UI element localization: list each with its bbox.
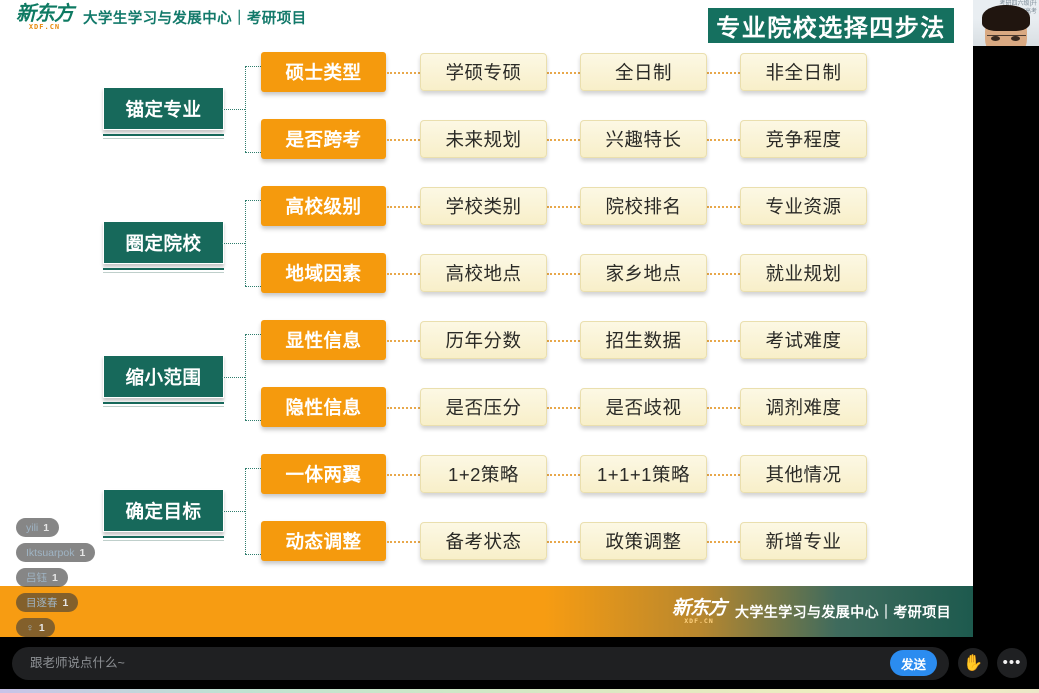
slide-title-text: 专业院校选择四步法	[716, 8, 946, 43]
presenter-eye-left	[991, 36, 1000, 41]
bracket-stem	[222, 511, 245, 512]
dotted-connector	[707, 407, 740, 409]
dotted-connector	[387, 273, 420, 275]
leaf-card-text: 历年分数	[445, 327, 521, 353]
chat-input[interactable]	[12, 647, 949, 680]
bracket-vertical	[245, 468, 246, 554]
bracket-vertical	[245, 334, 246, 420]
dotted-connector	[547, 407, 580, 409]
leaf-card: 是否歧视	[580, 388, 707, 426]
dotted-connector	[387, 407, 420, 409]
diagram-group: 锚定专业硕士类型学硕专硕全日制非全日制是否跨考未来规划兴趣特长竞争程度	[0, 52, 973, 186]
reaction-badge[interactable]: 吕钰1	[16, 568, 68, 587]
reaction-badge-name: 吕钰	[26, 570, 47, 585]
dotted-connector	[547, 72, 580, 74]
header-title: 大学生学习与发展中心｜考研项目	[83, 7, 307, 28]
slide-header: 新东方 XDF.CN 大学生学习与发展中心｜考研项目	[16, 3, 307, 31]
reaction-badge[interactable]: Iktsuarpok1	[16, 543, 95, 562]
leaf-card-text: 专业资源	[765, 193, 841, 219]
leaf-card-text: 全日制	[615, 59, 672, 85]
bracket-connector	[231, 334, 261, 420]
leaf-card-text: 政策调整	[605, 528, 681, 554]
leaf-card-text: 兴趣特长	[605, 126, 681, 152]
leaf-card-text: 是否歧视	[605, 394, 681, 420]
footer-brand: 新东方 XDF.CN 大学生学习与发展中心｜考研项目	[672, 599, 973, 625]
diagram-group: 确定目标一体两翼1+2策略1+1+1策略其他情况动态调整备考状态政策调整新增专业	[0, 454, 973, 588]
leaf-card-text: 1+2策略	[448, 461, 519, 487]
category-node-text: 一体两翼	[285, 461, 361, 487]
leaf-card: 高校地点	[420, 254, 547, 292]
step-underline	[103, 536, 224, 541]
leaf-card: 竞争程度	[740, 120, 867, 158]
reaction-badge[interactable]: ♀1	[16, 618, 55, 637]
xdf-logo: 新东方 XDF.CN	[16, 3, 73, 31]
dotted-connector	[707, 72, 740, 74]
leaf-card: 非全日制	[740, 53, 867, 91]
bracket-arm-bottom	[245, 420, 261, 421]
presenter-hair	[982, 5, 1030, 31]
leaf-card-text: 竞争程度	[765, 126, 841, 152]
step-label: 锚定专业	[103, 87, 224, 130]
leaf-card-text: 院校排名	[605, 193, 681, 219]
dotted-connector	[387, 206, 420, 208]
category-node-text: 高校级别	[285, 193, 361, 219]
more-options-icon[interactable]: •••	[997, 648, 1027, 678]
footer-title: 大学生学习与发展中心｜考研项目	[735, 602, 951, 622]
leaf-card-text: 调剂难度	[765, 394, 841, 420]
step-underline	[103, 134, 224, 139]
bracket-arm-top	[245, 468, 261, 469]
leaf-card-text: 是否压分	[445, 394, 521, 420]
presenter-video-thumbnail[interactable]: 考研四六级|升 |高考	[973, 0, 1039, 62]
leaf-card-text: 高校地点	[445, 260, 521, 286]
leaf-card: 就业规划	[740, 254, 867, 292]
leaf-card: 历年分数	[420, 321, 547, 359]
leaf-card: 兴趣特长	[580, 120, 707, 158]
dotted-connector	[707, 206, 740, 208]
bracket-connector	[231, 200, 261, 286]
slide-footer-band: 新东方 XDF.CN 大学生学习与发展中心｜考研项目	[0, 586, 973, 637]
leaf-card: 招生数据	[580, 321, 707, 359]
leaf-card: 新增专业	[740, 522, 867, 560]
slide-title-banner: 专业院校选择四步法	[706, 6, 956, 45]
leaf-card-text: 招生数据	[605, 327, 681, 353]
bottom-color-strip	[0, 689, 1039, 693]
category-node-text: 硕士类型	[285, 59, 361, 85]
bracket-arm-bottom	[245, 286, 261, 287]
reaction-badge-count: 1	[39, 622, 45, 634]
dotted-connector	[387, 541, 420, 543]
dotted-connector	[387, 474, 420, 476]
dotted-connector	[387, 72, 420, 74]
dotted-connector	[707, 340, 740, 342]
bracket-connector	[231, 66, 261, 152]
bracket-connector	[231, 468, 261, 554]
dotted-connector	[547, 541, 580, 543]
leaf-card: 学校类别	[420, 187, 547, 225]
dotted-connector	[707, 273, 740, 275]
bracket-vertical	[245, 66, 246, 152]
category-node-text: 地域因素	[285, 260, 361, 286]
leaf-card: 专业资源	[740, 187, 867, 225]
reaction-badge-count: 1	[79, 547, 85, 559]
reaction-badge-name: ♀	[26, 622, 34, 634]
step-label-text: 确定目标	[125, 498, 201, 524]
dotted-connector	[547, 139, 580, 141]
footer-logo-cn: 新东方	[672, 599, 726, 618]
meeting-window: 新东方 XDF.CN 大学生学习与发展中心｜考研项目 专业院校选择四步法 锚定专…	[0, 0, 1039, 693]
dotted-connector	[707, 139, 740, 141]
reaction-badge-count: 1	[63, 597, 69, 609]
dotted-connector	[387, 139, 420, 141]
camera-letterbox	[973, 46, 1039, 62]
step-underline	[103, 402, 224, 407]
step-label-text: 缩小范围	[125, 364, 201, 390]
reaction-badge-count: 1	[52, 572, 58, 584]
step-underline	[103, 268, 224, 273]
reaction-badge-name: yili	[26, 522, 38, 534]
raise-hand-icon[interactable]: ✋	[958, 648, 988, 678]
dotted-connector	[707, 474, 740, 476]
category-node: 地域因素	[261, 253, 386, 293]
reaction-badge-list: yili1Iktsuarpok1吕钰1目逐春1♀1	[16, 518, 95, 637]
bracket-stem	[222, 109, 245, 110]
diagram-group: 圈定院校高校级别学校类别院校排名专业资源地域因素高校地点家乡地点就业规划	[0, 186, 973, 320]
dotted-connector	[547, 273, 580, 275]
leaf-card-text: 就业规划	[765, 260, 841, 286]
category-node: 硕士类型	[261, 52, 386, 92]
leaf-card: 全日制	[580, 53, 707, 91]
leaf-card: 政策调整	[580, 522, 707, 560]
leaf-card: 是否压分	[420, 388, 547, 426]
leaf-card: 学硕专硕	[420, 53, 547, 91]
leaf-card-text: 学校类别	[445, 193, 521, 219]
leaf-card-text: 备考状态	[445, 528, 521, 554]
category-node-text: 显性信息	[285, 327, 361, 353]
dotted-connector	[547, 206, 580, 208]
leaf-card: 家乡地点	[580, 254, 707, 292]
leaf-card-text: 非全日制	[765, 59, 841, 85]
leaf-card: 调剂难度	[740, 388, 867, 426]
xdf-logo-en: XDF.CN	[29, 24, 60, 31]
xdf-logo-cn: 新东方	[16, 3, 73, 23]
category-node: 一体两翼	[261, 454, 386, 494]
bracket-arm-top	[245, 334, 261, 335]
leaf-card: 1+2策略	[420, 455, 547, 493]
step-label: 圈定院校	[103, 221, 224, 264]
leaf-card: 其他情况	[740, 455, 867, 493]
reaction-badge[interactable]: yili1	[16, 518, 59, 537]
leaf-card-text: 1+1+1策略	[597, 461, 690, 487]
bracket-stem	[222, 243, 245, 244]
reaction-badge[interactable]: 目逐春1	[16, 593, 78, 612]
bracket-arm-bottom	[245, 554, 261, 555]
chat-toolbar: 发送 ✋ •••	[0, 637, 1039, 689]
dotted-connector	[547, 340, 580, 342]
step-label-text: 锚定专业	[125, 96, 201, 122]
leaf-card: 1+1+1策略	[580, 455, 707, 493]
leaf-card: 未来规划	[420, 120, 547, 158]
bracket-stem	[222, 377, 245, 378]
reaction-badge-name: 目逐春	[26, 595, 58, 610]
bracket-arm-top	[245, 200, 261, 201]
category-node: 高校级别	[261, 186, 386, 226]
leaf-card-text: 新增专业	[765, 528, 841, 554]
bracket-arm-top	[245, 66, 261, 67]
shared-slide: 新东方 XDF.CN 大学生学习与发展中心｜考研项目 专业院校选择四步法 锚定专…	[0, 0, 973, 637]
four-step-diagram: 锚定专业硕士类型学硕专硕全日制非全日制是否跨考未来规划兴趣特长竞争程度圈定院校高…	[0, 52, 973, 586]
leaf-card-text: 学硕专硕	[445, 59, 521, 85]
leaf-card-text: 未来规划	[445, 126, 521, 152]
category-node-text: 隐性信息	[285, 394, 361, 420]
bracket-arm-bottom	[245, 152, 261, 153]
category-node: 显性信息	[261, 320, 386, 360]
reaction-badge-count: 1	[43, 522, 49, 534]
step-label-text: 圈定院校	[125, 230, 201, 256]
category-node-text: 动态调整	[285, 528, 361, 554]
diagram-group: 缩小范围显性信息历年分数招生数据考试难度隐性信息是否压分是否歧视调剂难度	[0, 320, 973, 454]
dotted-connector	[547, 474, 580, 476]
leaf-card-text: 其他情况	[765, 461, 841, 487]
leaf-card: 考试难度	[740, 321, 867, 359]
send-button[interactable]: 发送	[890, 650, 937, 676]
step-label: 确定目标	[103, 489, 224, 532]
leaf-card-text: 家乡地点	[605, 260, 681, 286]
category-node: 动态调整	[261, 521, 386, 561]
leaf-card-text: 考试难度	[765, 327, 841, 353]
footer-logo-en: XDF.CN	[684, 618, 713, 625]
dotted-connector	[707, 541, 740, 543]
bracket-vertical	[245, 200, 246, 286]
leaf-card: 院校排名	[580, 187, 707, 225]
category-node-text: 是否跨考	[285, 126, 361, 152]
presenter-eye-right	[1011, 36, 1020, 41]
dotted-connector	[387, 340, 420, 342]
reaction-badge-name: Iktsuarpok	[26, 547, 74, 559]
category-node: 隐性信息	[261, 387, 386, 427]
category-node: 是否跨考	[261, 119, 386, 159]
step-label: 缩小范围	[103, 355, 224, 398]
leaf-card: 备考状态	[420, 522, 547, 560]
